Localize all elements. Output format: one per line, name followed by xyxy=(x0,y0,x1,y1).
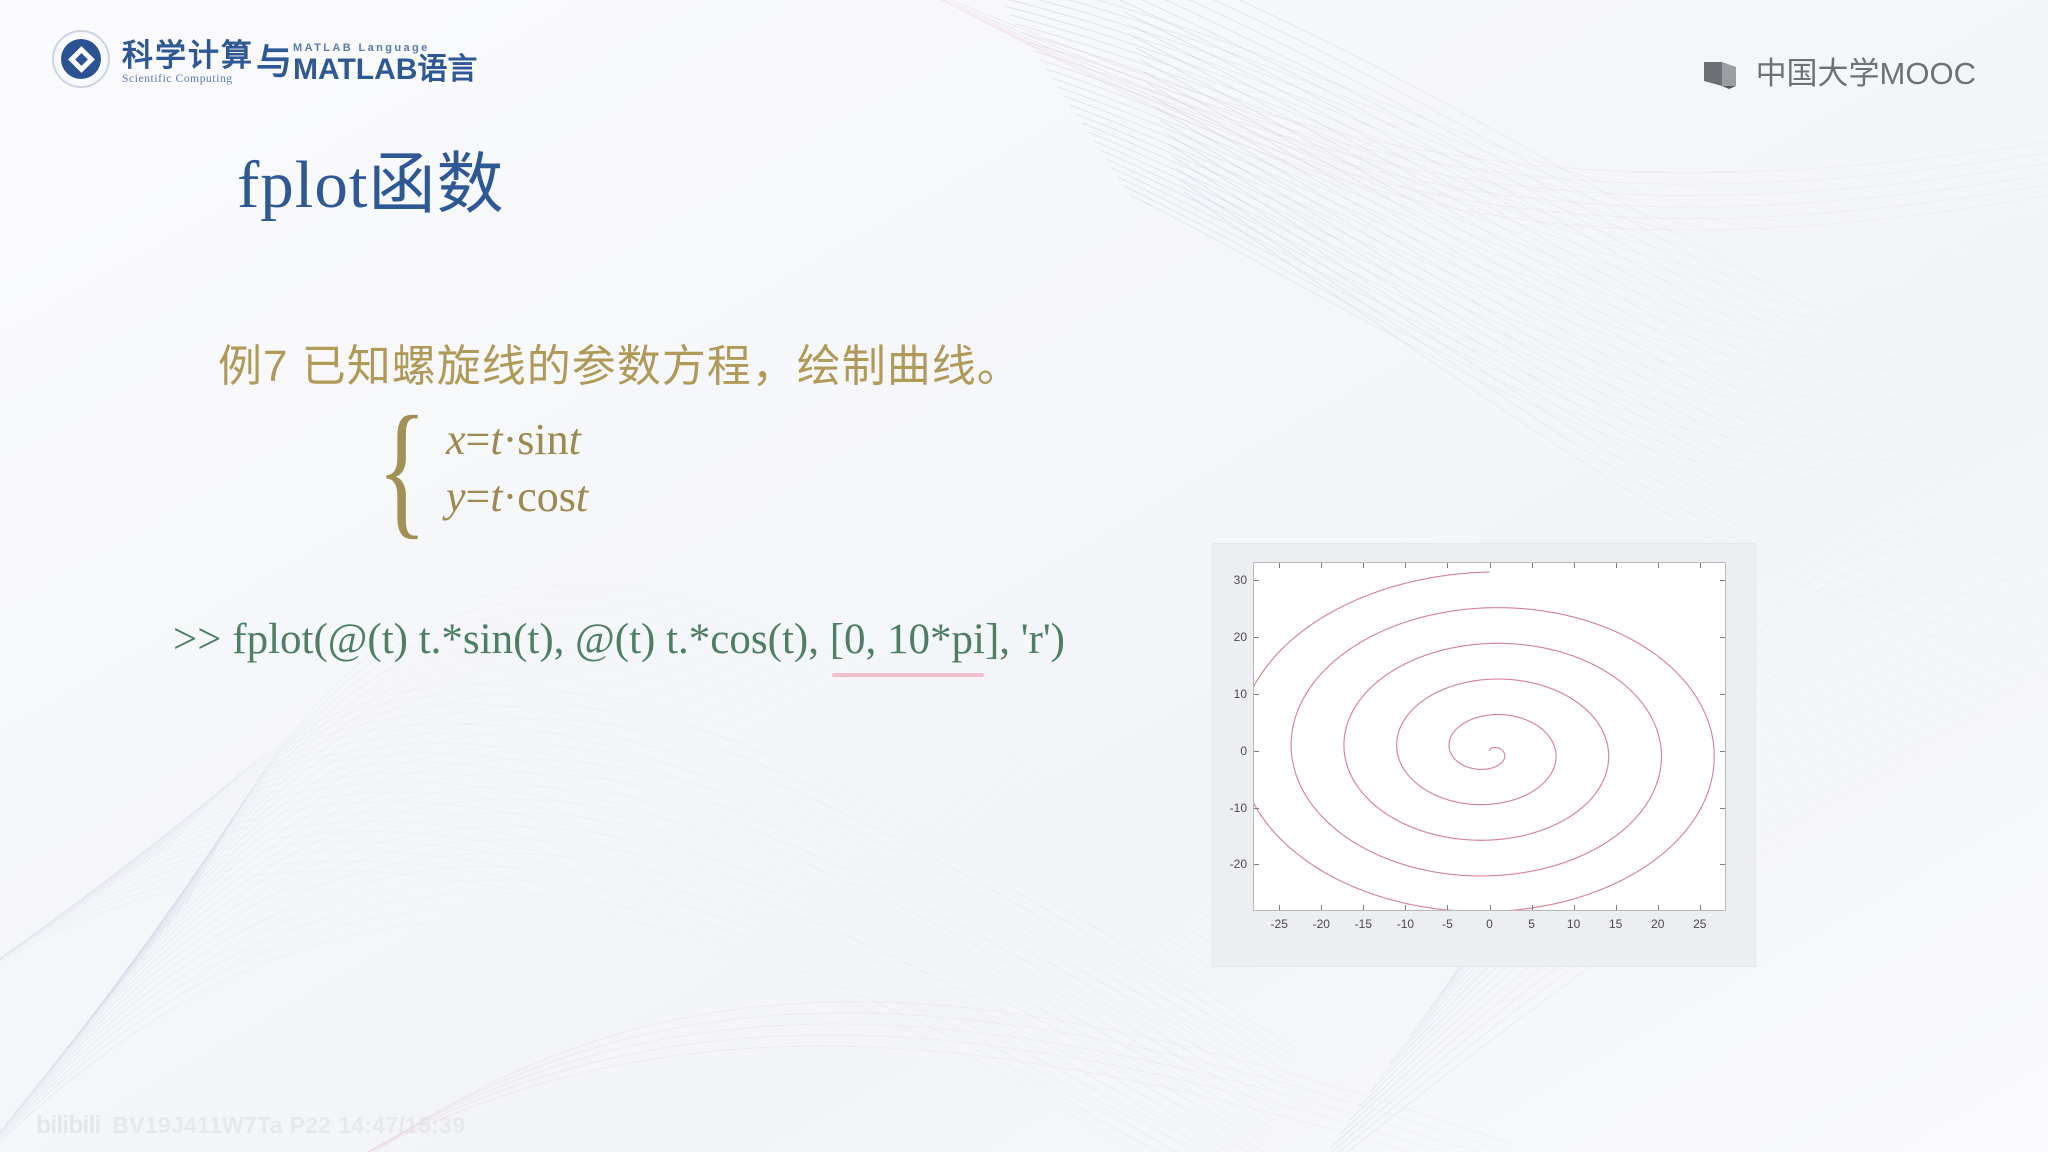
x-axis-tick-mark xyxy=(1658,905,1659,910)
y-axis-right-tick-mark xyxy=(1720,694,1725,695)
x-axis-tick-mark xyxy=(1490,905,1491,910)
matlab-command: >> fplot(@(t) t.*sin(t), @(t) t.*cos(t),… xyxy=(173,615,1065,664)
page-title: fplot函数 xyxy=(237,152,505,219)
equation-y-var: t xyxy=(490,472,502,521)
equation-x-lhs: x xyxy=(446,415,466,464)
x-axis-tick-label: -20 xyxy=(1313,917,1330,931)
x-axis-tick-label: -15 xyxy=(1355,917,1372,931)
plot-axes: 3020100-10-20-25-20-15-10-50510152025 xyxy=(1253,562,1726,911)
x-axis-top-tick-mark xyxy=(1447,563,1448,568)
x-axis-tick-label: 15 xyxy=(1609,917,1622,931)
matlab-figure: 3020100-10-20-25-20-15-10-50510152025 xyxy=(1213,544,1755,966)
example-statement: 例7 已知螺旋线的参数方程，绘制曲线。 xyxy=(218,330,1022,394)
y-axis-tick-label: -10 xyxy=(1230,801,1247,815)
x-axis-top-tick-mark xyxy=(1279,563,1280,568)
x-axis-top-tick-mark xyxy=(1700,563,1701,568)
equation-y: y=t·cost xyxy=(446,472,588,523)
x-axis-tick-label: 5 xyxy=(1528,917,1535,931)
command-highlight-underline xyxy=(832,673,984,677)
x-axis-top-tick-mark xyxy=(1574,563,1575,568)
left-brace-symbol: { xyxy=(377,415,427,523)
x-axis-top-tick-mark xyxy=(1490,563,1491,568)
x-axis-top-tick-mark xyxy=(1616,563,1617,568)
equation-x-fn: sin xyxy=(517,415,568,464)
bilibili-logo-text: bilibili xyxy=(36,1113,100,1138)
y-axis-tick-label: 10 xyxy=(1234,687,1247,701)
y-axis-tick-label: 30 xyxy=(1234,573,1247,587)
x-axis-tick-mark xyxy=(1616,905,1617,910)
university-seal-icon xyxy=(52,30,110,88)
y-axis-right-tick-mark xyxy=(1720,637,1725,638)
y-axis-right-tick-mark xyxy=(1720,808,1725,809)
equation-x-var: t xyxy=(490,415,502,464)
x-axis-tick-label: -5 xyxy=(1442,917,1453,931)
y-axis-tick-mark xyxy=(1254,808,1259,809)
equation-x-equals: = xyxy=(466,415,491,464)
video-info-text: BV19J411W7Ta P22 14:47/15:39 xyxy=(112,1114,465,1137)
y-axis-right-tick-mark xyxy=(1720,751,1725,752)
y-axis-right-tick-mark xyxy=(1720,580,1725,581)
x-axis-tick-mark xyxy=(1279,905,1280,910)
x-axis-tick-label: 20 xyxy=(1651,917,1664,931)
x-axis-top-tick-mark xyxy=(1321,563,1322,568)
x-axis-tick-label: -10 xyxy=(1397,917,1414,931)
x-axis-tick-label: -25 xyxy=(1271,917,1288,931)
equation-y-equals: = xyxy=(466,472,491,521)
y-axis-tick-mark xyxy=(1254,864,1259,865)
brand-cn-title: 科学计算 xyxy=(122,40,254,71)
y-axis-tick-label: 20 xyxy=(1234,630,1247,644)
slide-canvas: 科学计算 Scientific Computing 与 MATLAB Langu… xyxy=(0,0,2048,1152)
equation-x-dot: · xyxy=(503,415,518,464)
equation-y-lhs: y xyxy=(446,472,466,521)
equation-system: { x=t·sint y=t·cost xyxy=(366,415,588,523)
x-axis-tick-mark xyxy=(1574,905,1575,910)
x-axis-tick-mark xyxy=(1700,905,1701,910)
bilibili-watermark: bilibili BV19J411W7Ta P22 14:47/15:39 xyxy=(36,1113,465,1138)
mooc-platform-name: 中国大学MOOC xyxy=(1756,58,1976,89)
x-axis-tick-mark xyxy=(1405,905,1406,910)
mooc-platform-logo: 中国大学MOOC xyxy=(1702,58,1976,89)
y-axis-tick-label: -20 xyxy=(1230,857,1247,871)
brand-conjunction: 与 xyxy=(256,33,292,85)
spiral-curve xyxy=(1254,563,1725,910)
y-axis-tick-mark xyxy=(1254,637,1259,638)
x-axis-tick-label: 25 xyxy=(1693,917,1706,931)
equation-y-fn: cos xyxy=(517,472,576,521)
course-brand-logo: 科学计算 Scientific Computing 与 MATLAB Langu… xyxy=(52,30,477,88)
y-axis-tick-label: 0 xyxy=(1240,744,1247,758)
equation-y-dot: · xyxy=(503,472,518,521)
x-axis-tick-mark xyxy=(1321,905,1322,910)
y-axis-right-tick-mark xyxy=(1720,864,1725,865)
x-axis-top-tick-mark xyxy=(1658,563,1659,568)
equation-x-arg: t xyxy=(569,415,581,464)
mooc-book-icon xyxy=(1702,59,1746,89)
equation-x: x=t·sint xyxy=(446,415,588,466)
equation-y-arg: t xyxy=(576,472,588,521)
y-axis-tick-mark xyxy=(1254,580,1259,581)
brand-en-subtitle: Scientific Computing xyxy=(122,73,254,85)
matlab-title: MATLAB语言 xyxy=(293,55,477,85)
x-axis-top-tick-mark xyxy=(1405,563,1406,568)
x-axis-tick-label: 10 xyxy=(1567,917,1580,931)
x-axis-tick-mark xyxy=(1447,905,1448,910)
x-axis-tick-mark xyxy=(1532,905,1533,910)
y-axis-tick-mark xyxy=(1254,694,1259,695)
x-axis-tick-label: 0 xyxy=(1486,917,1493,931)
y-axis-tick-mark xyxy=(1254,751,1259,752)
x-axis-top-tick-mark xyxy=(1532,563,1533,568)
x-axis-tick-mark xyxy=(1363,905,1364,910)
x-axis-top-tick-mark xyxy=(1363,563,1364,568)
